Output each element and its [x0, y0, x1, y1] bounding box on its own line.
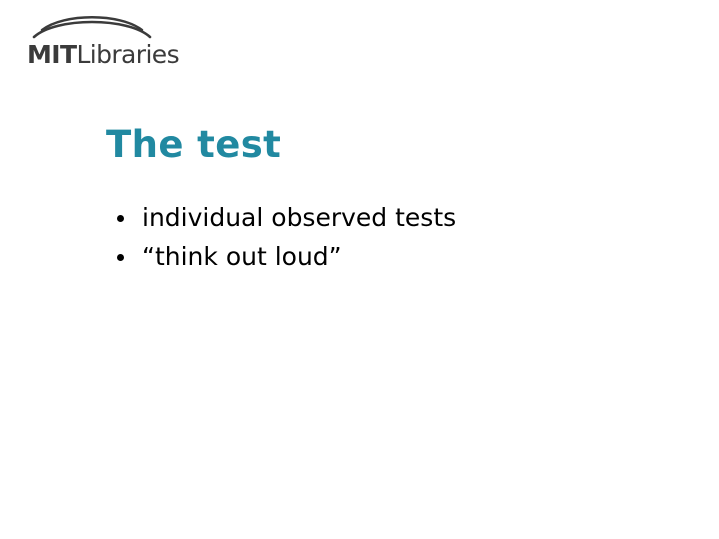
list-item-label: individual observed tests — [142, 203, 456, 232]
bullet-icon — [117, 215, 124, 222]
mit-libraries-logo: MITLibraries — [26, 12, 158, 72]
slide-bullet-list: individual observed tests “think out lou… — [116, 202, 456, 280]
bullet-icon — [117, 254, 124, 261]
list-item: “think out loud” — [116, 241, 456, 273]
page-title: The test — [106, 123, 281, 166]
double-arc-icon — [26, 12, 158, 42]
list-item: individual observed tests — [116, 202, 456, 234]
list-item-label: “think out loud” — [142, 242, 342, 271]
mit-libraries-wordmark: MITLibraries — [27, 40, 179, 70]
logo-mit-text: MIT — [27, 40, 76, 69]
presentation-slide: MITLibraries The test individual observe… — [0, 0, 719, 539]
logo-libraries-text: Libraries — [76, 40, 179, 69]
